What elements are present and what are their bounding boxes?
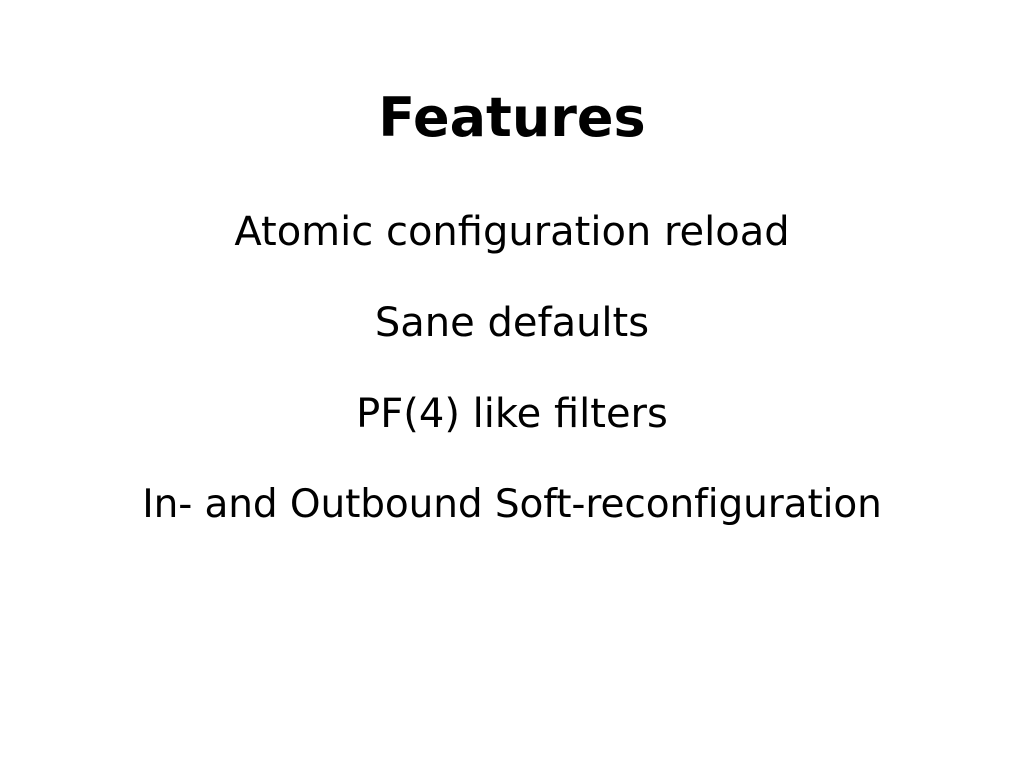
page-title: Features	[0, 88, 1024, 148]
bullet-list: Atomic configuration reload Sane default…	[0, 208, 1024, 572]
list-item: Atomic configuration reload	[0, 208, 1024, 299]
list-item: Sane defaults	[0, 299, 1024, 390]
list-item: PF(4) like filters	[0, 390, 1024, 481]
presentation-slide: Features Atomic configuration reload San…	[0, 0, 1024, 768]
list-item: In- and Outbound Soft-reconfiguration	[0, 481, 1024, 572]
